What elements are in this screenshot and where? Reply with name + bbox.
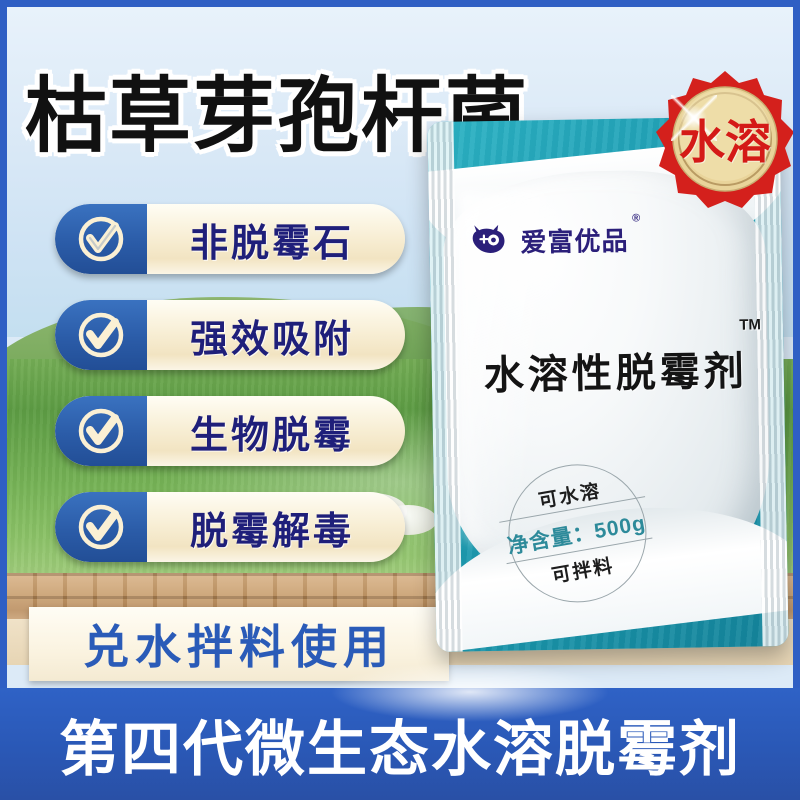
bottom-banner: 第四代微生态水溶脱霉剂 [0, 688, 800, 800]
product-poster: 枯草芽孢杆菌 非脱霉石 强效吸附 [0, 0, 800, 800]
brand-name: 爱富优品 ® [520, 220, 629, 259]
feature-pill-1[interactable]: 非脱霉石 [55, 204, 405, 274]
registered-mark: ® [632, 212, 641, 224]
check-circle-glyph [75, 405, 127, 457]
trademark-mark: TM [739, 316, 761, 333]
check-circle-icon [55, 300, 147, 370]
check-circle-icon [55, 204, 147, 274]
check-circle-glyph [75, 309, 127, 361]
feature-label: 强效吸附 [147, 308, 405, 363]
feature-label: 脱霉解毒 [147, 500, 405, 555]
feature-pill-4[interactable]: 脱霉解毒 [55, 492, 405, 562]
feature-pill-2[interactable]: 强效吸附 [55, 300, 405, 370]
check-circle-glyph [75, 213, 127, 265]
feature-pill-3[interactable]: 生物脱霉 [55, 396, 405, 466]
water-soluble-seal-badge: 水溶 [655, 69, 793, 209]
bottom-banner-label: 第四代微生态水溶脱霉剂 [59, 701, 741, 788]
bird-logo-icon [467, 219, 512, 264]
product-name: 水溶性脱霉剂 TM [465, 338, 766, 401]
feature-label: 生物脱霉 [147, 404, 405, 459]
check-circle-icon [55, 396, 147, 466]
brand-logo: 爱富优品 ® [467, 217, 629, 264]
feature-label: 非脱霉石 [147, 212, 405, 267]
seal-label: 水溶 [655, 69, 793, 209]
check-circle-icon [55, 492, 147, 562]
check-circle-glyph [75, 501, 127, 553]
